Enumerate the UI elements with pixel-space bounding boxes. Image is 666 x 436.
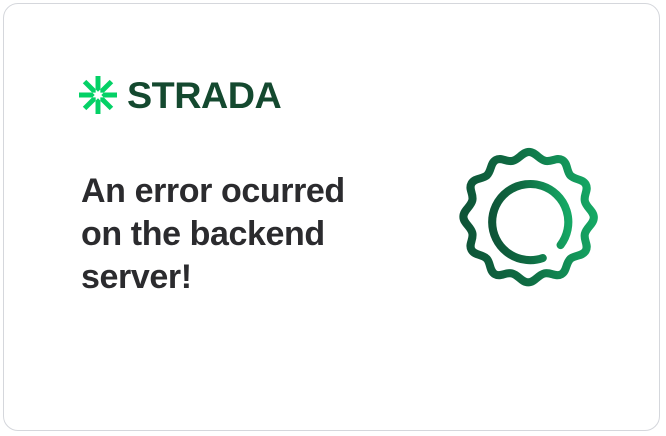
- gear-icon: [448, 143, 610, 305]
- error-message: An error ocurred on the backend server!: [81, 170, 381, 299]
- error-card: STRADA An error ocurred on the backend s…: [3, 3, 660, 431]
- strada-asterisk-icon: [79, 76, 117, 114]
- brand-lockup: STRADA: [79, 76, 278, 114]
- brand-wordmark: STRADA: [127, 77, 281, 114]
